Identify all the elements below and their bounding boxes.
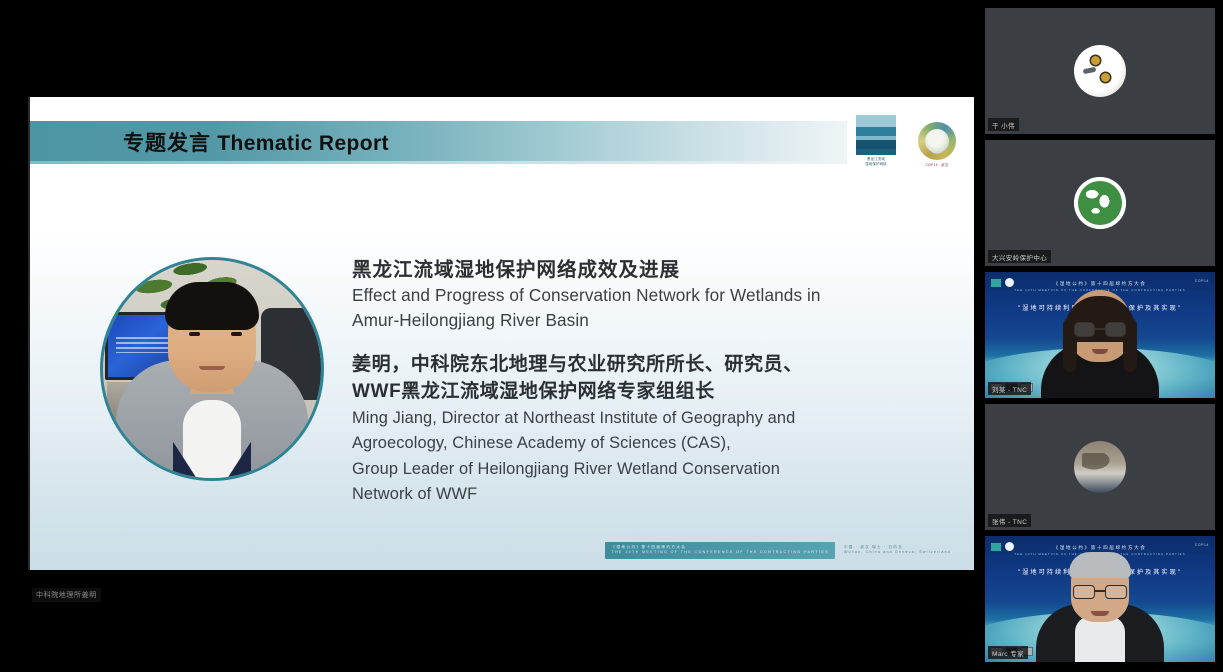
banner-title-cn: 专题发言 bbox=[123, 132, 211, 155]
slide-banner-title: 专题发言 Thematic Report bbox=[123, 127, 389, 157]
participant-tile-1[interactable]: 干 小伟 bbox=[985, 8, 1215, 134]
slide-header-banner: 专题发言 Thematic Report bbox=[30, 118, 847, 164]
participant-tile-5[interactable]: COP14 《湿地公约》第十四届缔约方大会 THE 14TH MEETING O… bbox=[985, 536, 1215, 662]
presenter-name-label: 中科院地理所姜明 bbox=[32, 588, 101, 602]
banner-underline bbox=[30, 161, 847, 164]
conference-emblem-caption: COP14 · 武汉 bbox=[918, 162, 956, 167]
slide-title-en-line1: Effect and Progress of Conservation Netw… bbox=[352, 283, 948, 307]
tile-3-backdrop-topline-1: 《湿地公约》第十四届缔约方大会 bbox=[1014, 281, 1185, 287]
conference-emblem-icon bbox=[918, 122, 956, 160]
portrait-hair bbox=[165, 282, 259, 330]
river-basin-logo-caption: 黑龙江流域 湿地保护网络 bbox=[856, 157, 896, 167]
tile-5-person-hair bbox=[1069, 552, 1131, 578]
video-conference-screen: 专题发言 Thematic Report 黑龙江流域 湿地保护网络 COP14 … bbox=[0, 0, 1223, 672]
slide-logos: 黑龙江流域 湿地保护网络 COP14 · 武汉 bbox=[856, 115, 956, 167]
slide-footer-location: 中国 · 武汉 瑞士 · 日内瓦 Wuhan, China and Geneva… bbox=[839, 543, 956, 559]
screen-share-area[interactable]: 专题发言 Thematic Report 黑龙江流域 湿地保护网络 COP14 … bbox=[0, 0, 983, 672]
slide-bio-cn-line1: 姜明，中科院东北地理与农业研究所所长、研究员、 bbox=[352, 352, 948, 379]
conference-emblem-logo: COP14 · 武汉 bbox=[918, 122, 956, 167]
tile-3-glasses-lens-left bbox=[1074, 322, 1095, 337]
tile-3-logo-circle-icon bbox=[1005, 278, 1014, 287]
slide-bio-en-line1: Ming Jiang, Director at Northeast Instit… bbox=[352, 406, 948, 431]
slide-footer-badge-line2: THE 14TH MEETING OF THE CONFERENCE OF TH… bbox=[611, 550, 829, 556]
tile-3-person-glasses-icon bbox=[1074, 322, 1126, 338]
tile-3-logo-square-icon bbox=[991, 279, 1001, 287]
tile-3-person-mouth bbox=[1092, 349, 1108, 354]
banner-title-en: Thematic Report bbox=[217, 132, 389, 155]
slide-footer: 《湿地公约》第十四届缔约方大会 THE 14TH MEETING OF THE … bbox=[605, 542, 956, 560]
presentation-slide[interactable]: 专题发言 Thematic Report 黑龙江流域 湿地保护网络 COP14 … bbox=[28, 97, 974, 570]
tile-3-glasses-lens-right bbox=[1105, 322, 1126, 337]
photo-avatar-icon bbox=[1074, 441, 1126, 493]
participant-tile-5-label: Marc 专家 bbox=[988, 646, 1028, 659]
portrait-eye-left bbox=[189, 332, 200, 336]
slide-bio-en-line2: Agroecology, Chinese Academy of Sciences… bbox=[352, 431, 948, 456]
participant-tile-1-label: 干 小伟 bbox=[988, 118, 1019, 131]
participant-tile-3-label: 刘某 - TNC bbox=[988, 382, 1031, 395]
slide-bio-cn-line2: WWF黑龙江流域湿地保护网络专家组组长 bbox=[352, 379, 948, 406]
tile-5-person-glasses-icon bbox=[1073, 585, 1127, 600]
river-basin-logo-icon bbox=[856, 115, 896, 155]
tile-5-glasses-bridge bbox=[1095, 590, 1105, 592]
tile-5-glasses-lens-left bbox=[1073, 585, 1095, 599]
tile-5-backdrop-corner-text: COP14 bbox=[1195, 543, 1209, 547]
slide-bio-en-line4: Network of WWF bbox=[352, 482, 948, 507]
participant-tile-4-label: 张伟 - TNC bbox=[988, 514, 1031, 527]
slide-footer-badge: 《湿地公约》第十四届缔约方大会 THE 14TH MEETING OF THE … bbox=[605, 542, 835, 560]
globe-avatar-icon bbox=[1074, 177, 1126, 229]
tile-5-backdrop-topline-1: 《湿地公约》第十四届缔约方大会 bbox=[1014, 545, 1185, 551]
slide-bio-en-line3: Group Leader of Heilongjiang River Wetla… bbox=[352, 457, 948, 482]
slide-title-en-line2: Amur-Heilongjiang River Basin bbox=[352, 308, 948, 332]
tile-5-glasses-lens-right bbox=[1105, 585, 1127, 599]
slide-text-block: 黑龙江流域湿地保护网络成效及进展 Effect and Progress of … bbox=[352, 257, 948, 507]
tile-5-backdrop-corner-logos bbox=[991, 542, 1014, 551]
slide-footer-location-line2: Wuhan, China and Geneva, Switzerland bbox=[844, 550, 951, 556]
participant-filmstrip[interactable]: 干 小伟 大兴安岭保护中心 COP14 《湿地公约》第十四届缔约方大会 THE … bbox=[983, 0, 1223, 672]
portrait-shirt bbox=[183, 400, 241, 481]
owl-avatar-icon bbox=[1074, 45, 1126, 97]
tile-3-backdrop-corner-logos bbox=[991, 278, 1014, 287]
tile-3-glasses-bridge bbox=[1095, 328, 1105, 330]
speaker-portrait bbox=[100, 257, 324, 481]
participant-tile-3[interactable]: COP14 《湿地公约》第十四届缔约方大会 THE 14TH MEETING O… bbox=[985, 272, 1215, 398]
tile-5-person-mouth bbox=[1091, 611, 1109, 616]
participant-tile-2-label: 大兴安岭保护中心 bbox=[988, 250, 1051, 263]
participant-tile-4[interactable]: 张伟 - TNC bbox=[985, 404, 1215, 530]
tile-5-logo-circle-icon bbox=[1005, 542, 1014, 551]
river-basin-logo-caption-line2: 湿地保护网络 bbox=[856, 162, 896, 167]
owl-beak bbox=[1083, 67, 1097, 75]
slide-text-spacer bbox=[352, 332, 948, 352]
slide-title-cn: 黑龙江流域湿地保护网络成效及进展 bbox=[352, 257, 948, 283]
portrait-eye-right bbox=[231, 332, 242, 336]
tile-5-person-shirt bbox=[1075, 616, 1125, 662]
tile-5-logo-square-icon bbox=[991, 543, 1001, 551]
participant-tile-2[interactable]: 大兴安岭保护中心 bbox=[985, 140, 1215, 266]
tile-3-backdrop-corner-text: COP14 bbox=[1195, 279, 1209, 283]
portrait-mouth bbox=[199, 366, 225, 370]
river-basin-logo: 黑龙江流域 湿地保护网络 bbox=[856, 115, 896, 167]
